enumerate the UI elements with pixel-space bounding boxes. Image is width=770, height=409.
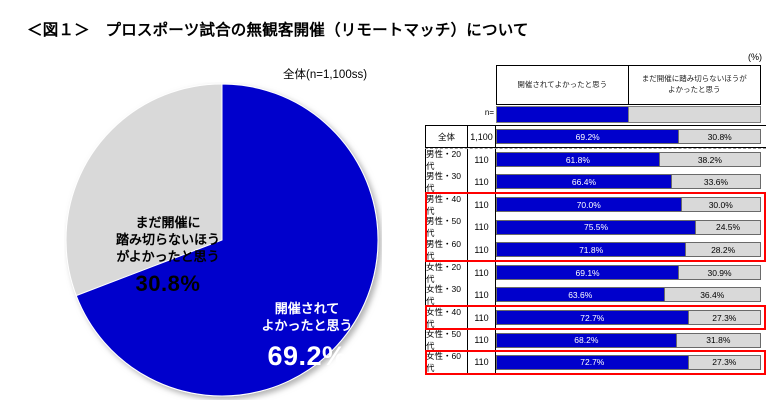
table-row: 女性・40代11072.7%27.3% — [425, 306, 766, 329]
table-row: 男性・30代11066.4%33.6% — [425, 171, 766, 194]
pie-caption: 全体(n=1,100ss) — [283, 66, 367, 82]
row-bar-cell: 69.2%30.8% — [496, 126, 766, 147]
stacked-bar: 72.7%27.3% — [496, 310, 761, 325]
n-header: n= — [468, 108, 494, 117]
bar-segment-disagree: 27.3% — [689, 355, 761, 370]
bar-segment-disagree: 30.9% — [679, 265, 761, 280]
row-sample-size: 110 — [468, 171, 496, 194]
table-row: 男性・20代11061.8%38.2% — [425, 148, 766, 171]
table-row: 男性・60代11071.8%28.2% — [425, 238, 766, 261]
table-row: 女性・60代11072.7%27.3% — [425, 351, 766, 374]
stacked-bar: 69.2%30.8% — [496, 129, 761, 144]
row-label: 男性・20代 — [425, 149, 468, 171]
pie-chart: まだ開催に 踏み切らないほう がよかったと思う 30.8% 開催されて よかった… — [64, 82, 382, 400]
row-sample-size: 110 — [468, 351, 496, 373]
bar-segment-agree: 75.5% — [496, 220, 696, 235]
stacked-bar: 75.5%24.5% — [496, 220, 761, 235]
pie-svg — [64, 82, 382, 400]
table-rows: 全体1,10069.2%30.8%男性・20代11061.8%38.2%男性・3… — [425, 125, 766, 374]
row-bar-cell: 70.0%30.0% — [496, 194, 766, 216]
stacked-bar: 63.6%36.4% — [496, 287, 761, 302]
row-sample-size: 110 — [468, 216, 496, 239]
bar-segment-agree: 71.8% — [496, 242, 686, 257]
row-label: 男性・60代 — [425, 238, 468, 261]
bar-segment-agree: 72.7% — [496, 355, 689, 370]
row-sample-size: 110 — [468, 262, 496, 284]
row-bar-cell: 66.4%33.6% — [496, 171, 766, 194]
row-bar-cell: 68.2%31.8% — [496, 329, 766, 352]
bar-segment-disagree: 27.3% — [689, 310, 761, 325]
bar-segment-disagree: 30.0% — [682, 197, 762, 212]
bar-segment-disagree: 33.6% — [672, 174, 761, 189]
breakdown-table: (%) 開催されてよかったと思う まだ開催に踏み切らないほうが よかったと思う … — [425, 52, 766, 392]
table-row: 男性・40代11070.0%30.0% — [425, 193, 766, 216]
column-header-disagree: まだ開催に踏み切らないほうが よかったと思う — [629, 66, 761, 104]
row-label: 女性・30代 — [425, 284, 468, 307]
table-row: 女性・50代11068.2%31.8% — [425, 329, 766, 352]
bar-segment-agree: 69.1% — [496, 265, 679, 280]
figure-title: ＜図１＞ プロスポーツ試合の無観客開催（リモートマッチ）について — [27, 18, 529, 40]
table-row: 全体1,10069.2%30.8% — [425, 125, 766, 148]
bar-segment-disagree: 36.4% — [665, 287, 761, 302]
bar-segment-disagree: 24.5% — [696, 220, 761, 235]
bar-segment-disagree: 30.8% — [679, 129, 761, 144]
row-bar-cell: 72.7%27.3% — [496, 351, 766, 373]
row-sample-size: 1,100 — [468, 126, 496, 147]
row-label: 男性・50代 — [425, 216, 468, 239]
stacked-bar: 70.0%30.0% — [496, 197, 761, 212]
row-sample-size: 110 — [468, 149, 496, 171]
figure-root: ＜図１＞ プロスポーツ試合の無観客開催（リモートマッチ）について 全体(n=1,… — [0, 0, 770, 409]
table-row: 女性・30代11063.6%36.4% — [425, 284, 766, 307]
row-sample-size: 110 — [468, 284, 496, 307]
legend-swatch-gray — [629, 106, 762, 123]
bar-segment-agree: 66.4% — [496, 174, 672, 189]
row-bar-cell: 75.5%24.5% — [496, 216, 766, 239]
stacked-bar: 68.2%31.8% — [496, 333, 761, 348]
bar-segment-agree: 72.7% — [496, 310, 689, 325]
row-bar-cell: 71.8%28.2% — [496, 238, 766, 261]
bar-segment-disagree: 28.2% — [686, 242, 761, 257]
legend-swatch-blue — [496, 106, 629, 123]
row-label: 男性・40代 — [425, 194, 468, 216]
row-sample-size: 110 — [468, 238, 496, 261]
row-label: 女性・50代 — [425, 329, 468, 352]
stacked-bar: 69.1%30.9% — [496, 265, 761, 280]
table-row: 男性・50代11075.5%24.5% — [425, 216, 766, 239]
row-sample-size: 110 — [468, 329, 496, 352]
row-sample-size: 110 — [468, 307, 496, 329]
row-label: 男性・30代 — [425, 171, 468, 194]
row-label: 女性・60代 — [425, 351, 468, 373]
stacked-bar: 72.7%27.3% — [496, 355, 761, 370]
row-bar-cell: 69.1%30.9% — [496, 262, 766, 284]
row-label: 女性・40代 — [425, 307, 468, 329]
stacked-bar: 71.8%28.2% — [496, 242, 761, 257]
bar-segment-agree: 69.2% — [496, 129, 679, 144]
row-bar-cell: 61.8%38.2% — [496, 149, 766, 171]
row-sample-size: 110 — [468, 194, 496, 216]
table-row: 女性・20代11069.1%30.9% — [425, 261, 766, 284]
bar-segment-agree: 68.2% — [496, 333, 677, 348]
bar-segment-disagree: 38.2% — [660, 152, 761, 167]
column-header-disagree-line2: よかったと思う — [668, 85, 721, 94]
bar-segment-agree: 70.0% — [496, 197, 682, 212]
row-label: 女性・20代 — [425, 262, 468, 284]
column-header-agree: 開催されてよかったと思う — [497, 66, 629, 104]
bar-segment-disagree: 31.8% — [677, 333, 761, 348]
table-header: 開催されてよかったと思う まだ開催に踏み切らないほうが よかったと思う — [496, 65, 761, 105]
bar-segment-agree: 61.8% — [496, 152, 660, 167]
stacked-bar: 61.8%38.2% — [496, 152, 761, 167]
row-label: 全体 — [425, 126, 468, 147]
stacked-bar: 66.4%33.6% — [496, 174, 761, 189]
legend-swatches — [496, 106, 761, 123]
bar-segment-agree: 63.6% — [496, 287, 665, 302]
row-bar-cell: 63.6%36.4% — [496, 284, 766, 307]
column-header-disagree-line1: まだ開催に踏み切らないほうが — [642, 74, 747, 83]
row-bar-cell: 72.7%27.3% — [496, 307, 766, 329]
unit-label: (%) — [748, 52, 762, 62]
